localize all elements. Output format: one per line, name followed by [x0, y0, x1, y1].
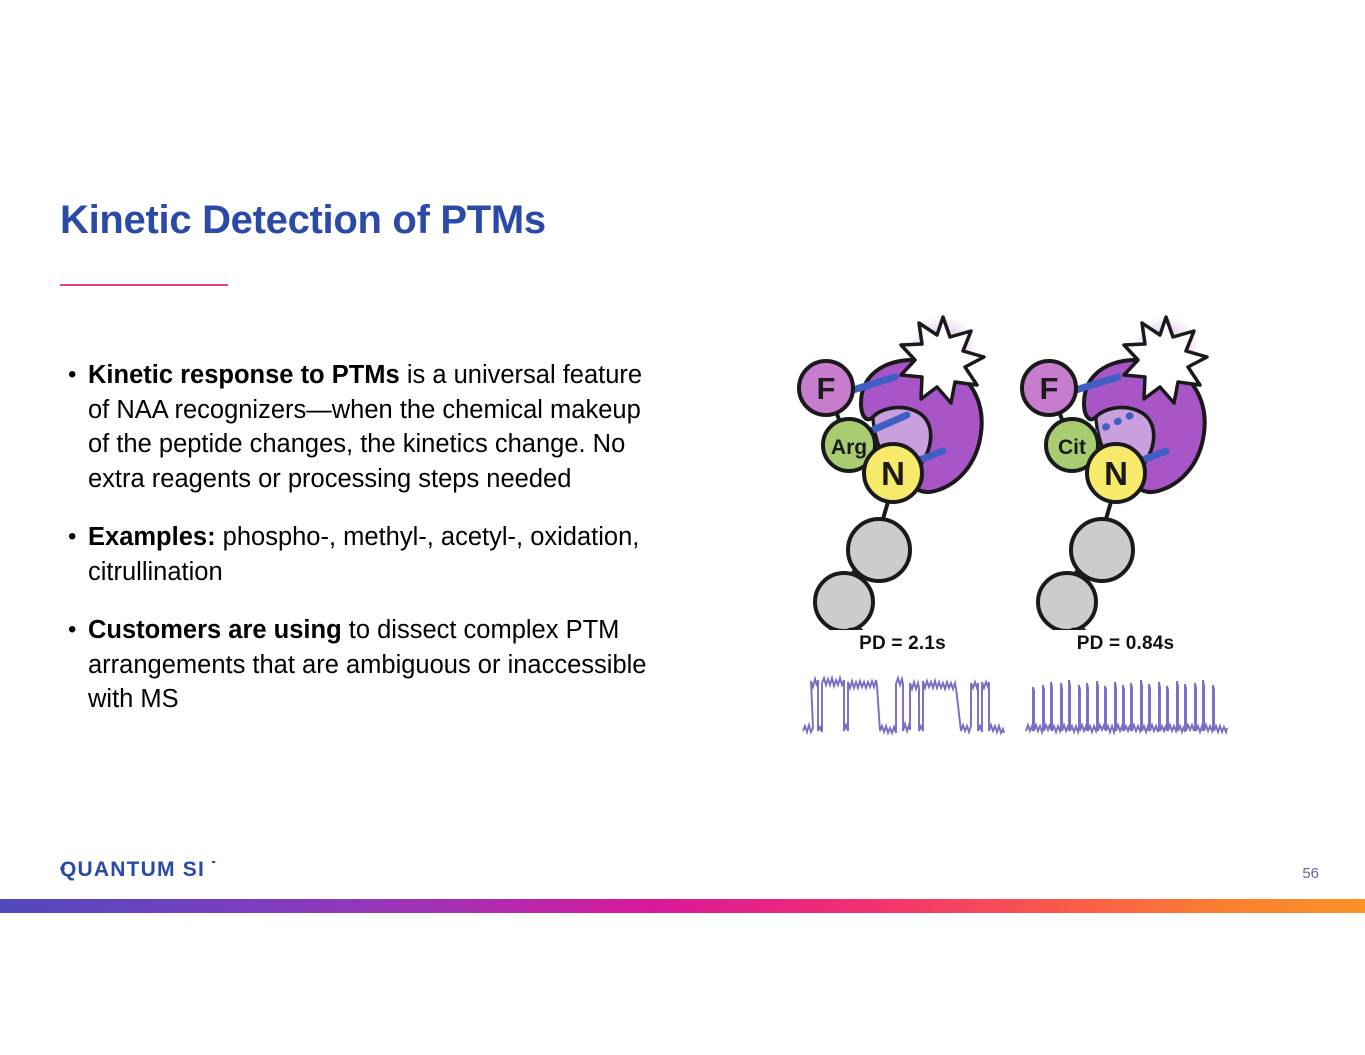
- bullet-text: Kinetic response to PTMs is a universal …: [88, 358, 662, 496]
- bullet-marker-icon: •: [62, 358, 88, 392]
- figure-panel-arg: F Arg N PD = 2.1s: [795, 305, 1010, 755]
- list-item: • Examples: phospho-, methyl-, acetyl-, …: [62, 520, 662, 589]
- bullet-list: • Kinetic response to PTMs is a universa…: [62, 358, 662, 741]
- trace-path: [1026, 680, 1227, 732]
- fluorophore-label: F: [1040, 371, 1059, 406]
- bullet-text: Customers are using to dissect complex P…: [88, 613, 662, 717]
- page-title: Kinetic Detection of PTMs: [60, 198, 546, 243]
- peptide-bead: [1038, 573, 1096, 630]
- bullet-lead: Customers are using: [88, 616, 342, 644]
- trace-svg-long-dwell: [801, 667, 1006, 742]
- residue-label: Arg: [831, 436, 867, 459]
- bullet-lead: Kinetic response to PTMs: [88, 361, 400, 389]
- bullet-marker-icon: •: [62, 520, 88, 554]
- trace-path: [803, 678, 1004, 733]
- page-number: 56: [1302, 865, 1319, 882]
- pd-label-cit: PD = 0.84s: [1018, 633, 1233, 655]
- brand-gradient-bar: [0, 899, 1365, 913]
- kinetic-trace-cit: [1024, 667, 1229, 742]
- recognizer-label: N: [1104, 455, 1128, 492]
- bullet-text: Examples: phospho-, methyl-, acetyl-, ox…: [88, 520, 662, 589]
- peptide-bead: [815, 573, 873, 630]
- bullet-lead: Examples:: [88, 523, 216, 551]
- kinetic-trace-arg: [801, 667, 1006, 742]
- list-item: • Customers are using to dissect complex…: [62, 613, 662, 717]
- trace-svg-short-dwell: [1024, 667, 1229, 742]
- ptm-kinetics-figure: F Arg N PD = 2.1s: [790, 305, 1230, 755]
- quantum-si-logo: QUANTUM SI: [60, 856, 260, 882]
- arg-binding-diagram: F Arg N: [795, 305, 1010, 630]
- peptide-bead: [848, 519, 910, 581]
- residue-label: Cit: [1058, 436, 1086, 459]
- slide-root: { "slide": { "title": "Kinetic Detection…: [0, 0, 1365, 1055]
- figure-panel-cit: F Cit N PD = 0.84s: [1018, 305, 1233, 755]
- recognizer-label: N: [881, 455, 905, 492]
- pd-label-arg: PD = 2.1s: [795, 633, 1010, 655]
- list-item: • Kinetic response to PTMs is a universa…: [62, 358, 662, 496]
- fluorophore-label: F: [817, 371, 836, 406]
- title-underline-rule: [60, 284, 228, 286]
- logo-trademark-mark: [212, 861, 215, 863]
- peptide-bead: [1071, 519, 1133, 581]
- bullet-marker-icon: •: [62, 613, 88, 647]
- logo-dot-icon: [60, 866, 65, 871]
- cit-binding-diagram: F Cit N: [1018, 305, 1233, 630]
- logo-text: QUANTUM SI: [60, 858, 205, 881]
